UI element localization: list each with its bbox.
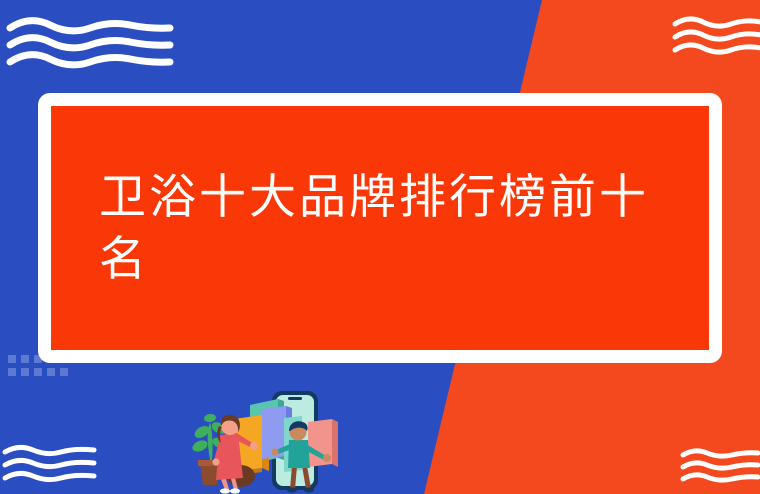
wave-lines-icon [6, 14, 176, 72]
page-title: 卫浴十大品牌排行榜前十名 [51, 166, 689, 290]
people-with-books-and-phone-illustration [186, 388, 354, 494]
wave-lines-icon [672, 14, 760, 60]
wave-lines-icon [2, 443, 98, 485]
title-card: 卫浴十大品牌排行榜前十名 [38, 93, 722, 363]
wave-lines-icon [680, 447, 760, 485]
title-card-inner: 卫浴十大品牌排行榜前十名 [51, 106, 709, 350]
poster-canvas: 卫浴十大品牌排行榜前十名 [0, 0, 760, 494]
